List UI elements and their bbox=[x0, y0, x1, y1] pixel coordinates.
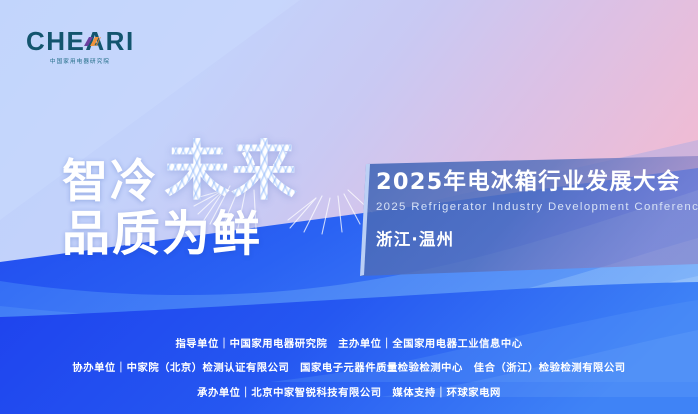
conference-location: 浙江·温州 bbox=[376, 226, 696, 250]
headline-line1-part1: 智冷 bbox=[62, 158, 158, 204]
headline-slogan: 智冷 未来 品质为鲜 bbox=[62, 138, 372, 258]
headline-line1-part2: 未来 bbox=[164, 138, 298, 204]
credits-block: 指导单位｜中国家用电器研究院 主办单位｜全国家用电器工业信息中心 协办单位｜中家… bbox=[0, 339, 698, 398]
credit-line-guidance: 指导单位｜中国家用电器研究院 主办单位｜全国家用电器工业信息中心 bbox=[0, 339, 698, 349]
logo-subtitle: 中国家用电器研究院 bbox=[26, 57, 134, 65]
conference-subtitle-en: 2025 Refrigerator Industry Development C… bbox=[376, 201, 696, 213]
credit-line-cooperation: 协办单位｜中家院（北京）检测认证有限公司 国家电子元器件质量检验检测中心 佳合（… bbox=[0, 363, 698, 373]
conference-title-panel: 2025年电冰箱行业发展大会 2025 Refrigerator Industr… bbox=[360, 156, 698, 276]
conference-poster: CHEARI 中国家用电器研究院 智冷 未来 品质为鲜 2025年电 bbox=[0, 0, 698, 414]
credit-line-organizer: 承办单位｜北京中家智锐科技有限公司 媒体支持｜环球家电网 bbox=[0, 388, 698, 398]
cheari-logo[interactable]: CHEARI 中国家用电器研究院 bbox=[26, 28, 148, 65]
conference-title: 2025年电冰箱行业发展大会 bbox=[376, 170, 696, 196]
logo-accent-icon bbox=[84, 35, 101, 48]
headline-line2: 品质为鲜 bbox=[62, 210, 262, 258]
